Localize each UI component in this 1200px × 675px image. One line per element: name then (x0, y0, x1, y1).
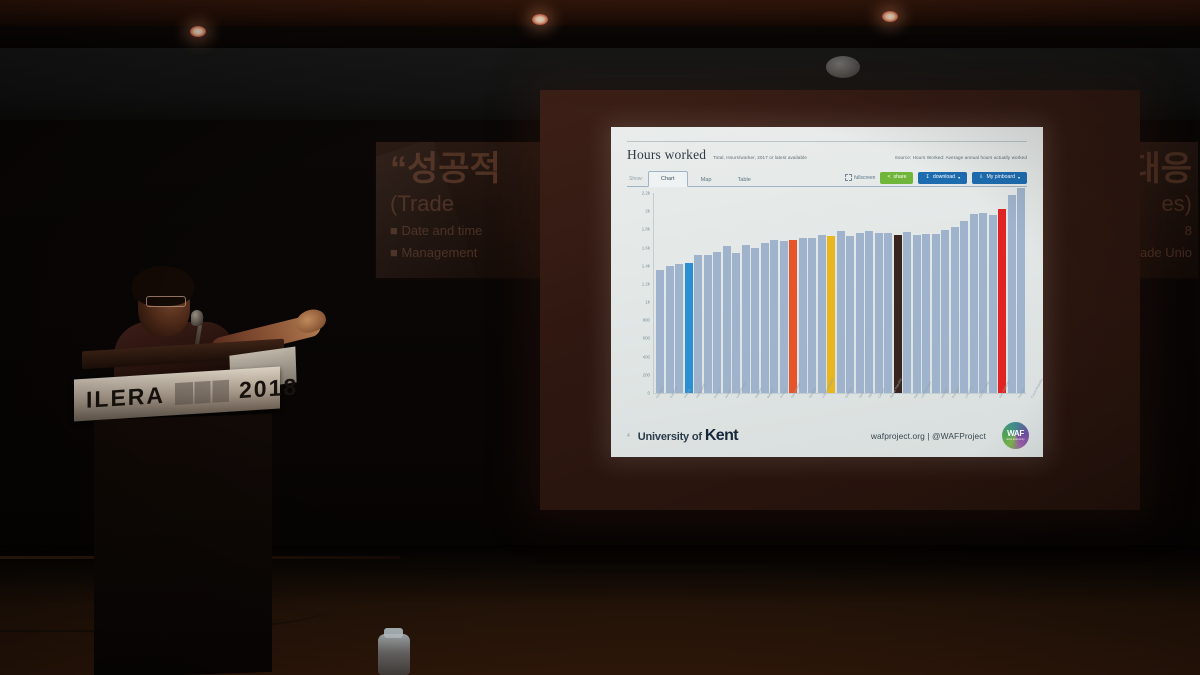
water-bottle (378, 634, 410, 675)
y-axis-tick: 400 (643, 354, 650, 359)
bar[interactable] (780, 241, 788, 393)
podium-year-label: 2018 (239, 373, 298, 404)
toolbar-actions: fullscreen < share ↧ download ▾ ⇩ My pin… (845, 172, 1027, 186)
bar[interactable] (846, 236, 854, 393)
bar[interactable] (704, 255, 712, 393)
presentation-slide: Hours worked Total, Hours/worker, 2017 o… (611, 127, 1043, 457)
slide-top-rule (627, 141, 1027, 142)
y-axis-tick: 1k (645, 300, 650, 305)
university-logo: University of Kent (638, 427, 738, 445)
bar[interactable] (989, 215, 997, 393)
bar[interactable] (903, 232, 911, 393)
y-axis: 2.2k2k1.8k1.6k1.4k1.2k1k8006004002000 (627, 193, 653, 393)
fullscreen-icon (845, 174, 852, 181)
y-axis-tick: 2k (645, 209, 650, 214)
bar[interactable] (998, 209, 1006, 393)
bar[interactable] (818, 235, 826, 393)
bar[interactable] (723, 246, 731, 393)
y-axis-tick: 0 (648, 391, 650, 396)
x-axis: GermanyDenmarkNorwayNetherlandsFranceAus… (653, 393, 1027, 421)
y-axis-tick: 1.8k (642, 227, 650, 232)
bar[interactable] (970, 214, 978, 393)
bar[interactable] (685, 263, 693, 393)
bar[interactable] (713, 252, 721, 393)
bar[interactable] (922, 234, 930, 393)
bar[interactable] (894, 235, 902, 393)
project-url: wafproject.org | @WAFProject (871, 431, 986, 441)
bar[interactable] (941, 230, 949, 393)
bar[interactable] (732, 253, 740, 393)
slide-subtitle: Total, Hours/worker, 2017 or latest avai… (713, 155, 807, 160)
download-icon: ↧ (925, 175, 929, 180)
bar[interactable] (913, 235, 921, 393)
plot-area (653, 193, 1027, 393)
y-axis-tick: 1.4k (642, 263, 650, 268)
slide-source-note: Source: Hours Worked: Average annual hou… (895, 155, 1027, 160)
bar[interactable] (761, 243, 769, 393)
bar[interactable] (789, 240, 797, 393)
x-axis-label: Czech Republic (1030, 378, 1040, 397)
podium-name-plate: ILERA 2018 (74, 367, 280, 422)
y-axis-tick: 800 (643, 318, 650, 323)
bar[interactable] (1008, 195, 1016, 393)
bar-series (654, 193, 1027, 393)
bar[interactable] (865, 231, 873, 393)
banner-left: “성공적 (Trade ■ Date and time ■ Management (374, 140, 564, 280)
pinboard-label: My pinboard (986, 175, 1015, 180)
ilera-logo-icon (175, 380, 229, 405)
bar[interactable] (799, 238, 807, 393)
tab-map[interactable]: Map (688, 172, 725, 187)
microphone-icon (191, 310, 203, 326)
download-button[interactable]: ↧ download ▾ (918, 172, 967, 184)
y-axis-tick: 600 (643, 336, 650, 341)
banner-left-subline: (Trade (390, 192, 554, 216)
bar[interactable] (742, 245, 750, 393)
bar[interactable] (875, 233, 883, 393)
show-label: Show: (627, 176, 648, 186)
y-axis-tick: 1.2k (642, 281, 650, 286)
y-axis-tick: 2.2k (642, 191, 650, 196)
page-number: 4 (627, 433, 630, 439)
my-pinboard-button[interactable]: ⇩ My pinboard ▾ (972, 172, 1027, 184)
bar[interactable] (960, 221, 968, 393)
university-name: Kent (705, 427, 738, 445)
chart-toolbar: Show: Chart Map Table fullscreen < share… (627, 170, 1027, 187)
tab-table[interactable]: Table (724, 172, 763, 187)
ceiling-spotlight-icon (190, 26, 206, 37)
conference-photo: “성공적 (Trade ■ Date and time ■ Management… (0, 0, 1200, 675)
slide-footer: 4 University of Kent wafproject.org | @W… (627, 422, 1029, 449)
bar[interactable] (666, 266, 674, 393)
bar-chart: 2.2k2k1.8k1.6k1.4k1.2k1k8006004002000 (627, 193, 1027, 393)
bar[interactable] (1017, 188, 1025, 393)
bar[interactable] (808, 238, 816, 393)
tab-chart[interactable]: Chart (648, 171, 688, 187)
y-axis-tick: 1.6k (642, 245, 650, 250)
ceiling-speaker-icon (826, 56, 860, 78)
bar[interactable] (951, 227, 959, 393)
bar[interactable] (656, 270, 664, 393)
share-label: share (894, 175, 907, 180)
fullscreen-button[interactable]: fullscreen (845, 174, 875, 181)
waf-logo-subtext: work autonomy (1006, 439, 1024, 442)
podium: ILERA 2018 (64, 345, 284, 675)
banner-left-bullet-1: ■ Date and time (390, 223, 554, 238)
pin-icon: ⇩ (979, 175, 983, 180)
glasses-icon (146, 296, 186, 307)
university-prefix: University of (638, 431, 702, 443)
banner-left-headline: “성공적 (390, 152, 554, 188)
ceiling-spotlight-icon (882, 11, 898, 22)
bar[interactable] (856, 233, 864, 393)
bar[interactable] (770, 240, 778, 393)
fullscreen-label: fullscreen (854, 175, 875, 181)
bar[interactable] (979, 213, 987, 393)
bar[interactable] (694, 255, 702, 393)
page-title: Hours worked (627, 147, 706, 163)
podium-brand-label: ILERA (86, 381, 165, 413)
bar[interactable] (837, 231, 845, 393)
bar[interactable] (675, 264, 683, 393)
share-icon: < (887, 175, 890, 180)
chevron-down-icon: ▾ (1018, 176, 1020, 180)
bar[interactable] (932, 234, 940, 393)
ceiling-spotlight-icon (532, 14, 548, 25)
share-button[interactable]: < share (880, 172, 913, 184)
waf-logo-text: WAF (1007, 430, 1024, 438)
bar[interactable] (751, 248, 759, 393)
waf-logo-icon: WAF work autonomy (1002, 422, 1029, 449)
slide-header: Hours worked Total, Hours/worker, 2017 o… (627, 147, 1027, 163)
y-axis-tick: 200 (643, 372, 650, 377)
podium-body (94, 414, 272, 675)
banner-left-bullet-2: ■ Management (390, 245, 554, 260)
bar[interactable] (884, 233, 892, 393)
chevron-down-icon: ▾ (958, 176, 960, 180)
download-label: download (933, 175, 955, 180)
bar[interactable] (827, 236, 835, 393)
